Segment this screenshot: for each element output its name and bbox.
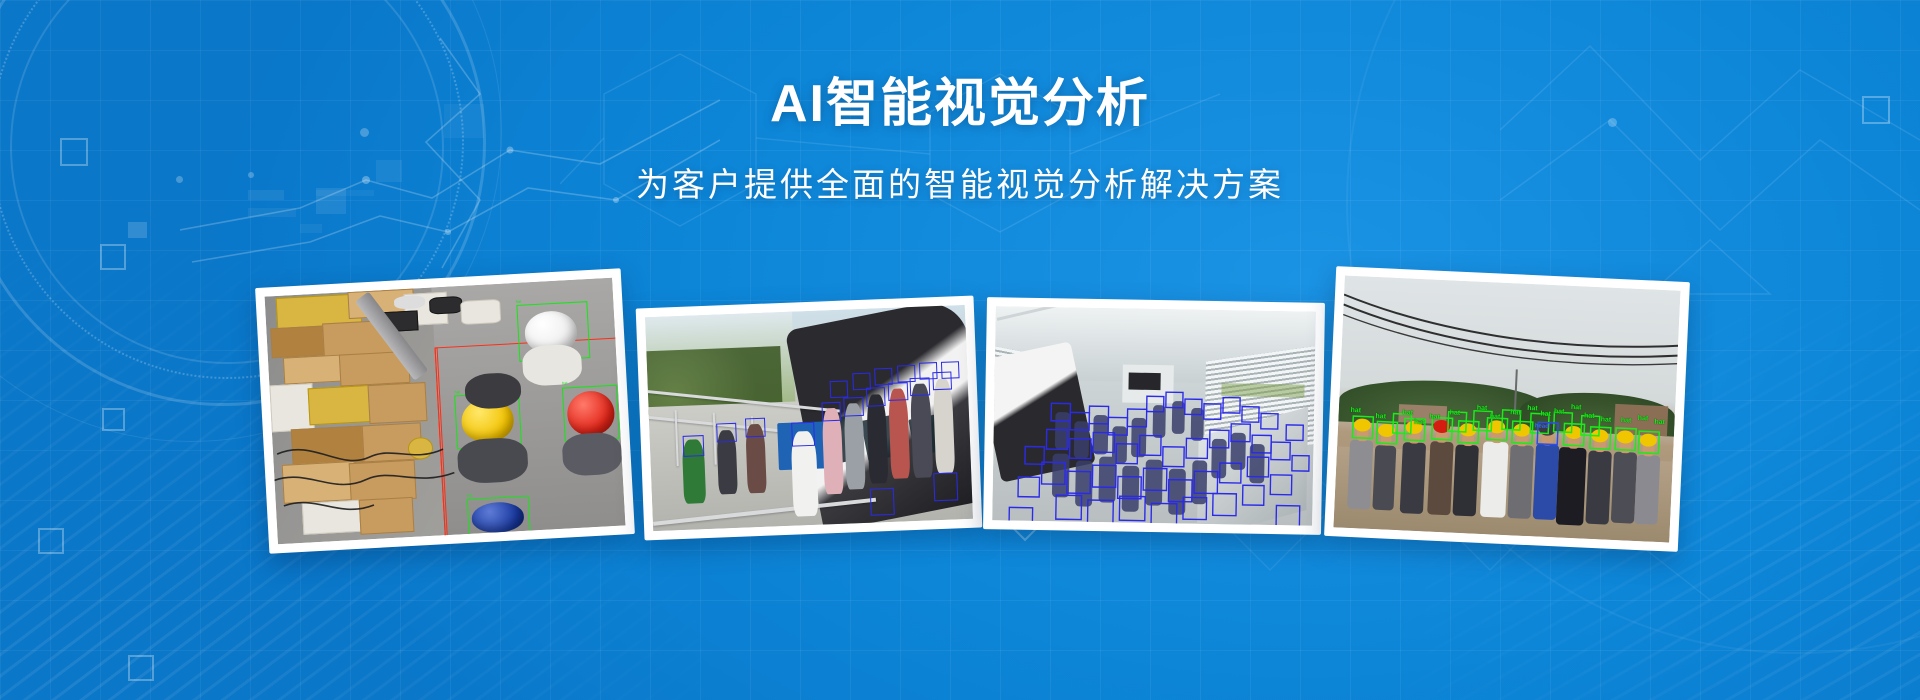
analysis-sample-gallery: hat hat hat hat	[0, 258, 1920, 528]
detection-label: hat	[516, 299, 522, 304]
ai-vision-banner: AI智能视觉分析 为客户提供全面的智能视觉分析解决方案	[0, 0, 1920, 700]
warehouse-helmet-screenshot: hat hat hat hat	[265, 278, 626, 544]
hat-label: hat	[1477, 405, 1488, 412]
gallery-card-warehouse-helmet-detection[interactable]: hat hat hat hat	[255, 268, 635, 553]
square-filled-icon	[300, 224, 322, 233]
square-outline-icon	[128, 655, 154, 681]
hat-label: hat	[1601, 416, 1612, 423]
square-outline-icon	[38, 528, 64, 554]
head-label: head	[1535, 423, 1549, 430]
hat-label: hat	[1510, 409, 1521, 416]
page-subtitle: 为客户提供全面的智能视觉分析解决方案	[0, 168, 1920, 201]
hat-label: hat	[1350, 407, 1361, 414]
overpass-crowd-screenshot	[645, 305, 973, 531]
hat-label: hat	[1584, 413, 1595, 420]
hat-label: hat	[1540, 411, 1551, 418]
face-detection-box	[682, 435, 704, 457]
page-title: AI智能视觉分析	[0, 78, 1920, 130]
hat-label: hat	[1554, 409, 1565, 416]
hat-label: hat	[1375, 413, 1386, 420]
square-filled-icon	[248, 208, 296, 217]
hat-label: hat	[1490, 413, 1501, 420]
hat-label: hat	[1654, 418, 1665, 425]
detection-label: hat	[467, 492, 473, 497]
headline-block: AI智能视觉分析 为客户提供全面的智能视觉分析解决方案	[0, 78, 1920, 201]
hat-label: hat	[1402, 409, 1413, 416]
detection-label: hat	[454, 389, 460, 394]
crowd-detection-overlay	[992, 306, 1316, 526]
gallery-card-overpass-crowd-face-detection[interactable]	[636, 296, 983, 541]
hat-label: hat	[1638, 415, 1649, 422]
detection-label: hat	[562, 381, 568, 386]
square-filled-icon	[128, 222, 147, 238]
construction-site-screenshot: hat hat hat hat hat hat hat hat hat hat …	[1333, 276, 1680, 543]
hat-label: hat	[1450, 409, 1461, 416]
gallery-card-station-platform-crowd-detection[interactable]	[983, 297, 1325, 535]
station-platform-screenshot	[992, 306, 1316, 526]
hat-label: hat	[1571, 404, 1582, 411]
hat-label: hat	[1414, 419, 1425, 426]
gallery-card-construction-site-hat-detection[interactable]: hat hat hat hat hat hat hat hat hat hat …	[1324, 266, 1690, 552]
hat-label: hat	[1429, 413, 1440, 420]
hat-detection-overlay	[1333, 276, 1680, 543]
hat-label: hat	[1621, 417, 1632, 424]
hat-label: hat	[1527, 405, 1538, 412]
